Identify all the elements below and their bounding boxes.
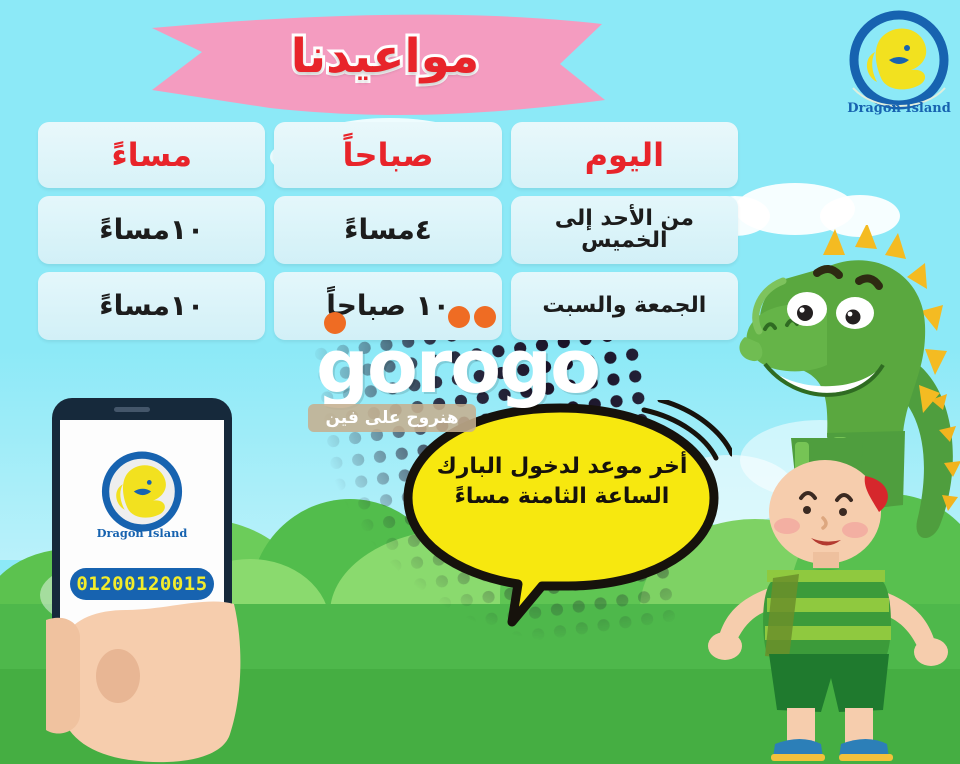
cell-morning: ٤مساءً — [274, 196, 501, 264]
speech-line-2: الساعة الثامنة مساءً — [422, 482, 702, 512]
header-label-evening: مساءً — [111, 139, 192, 171]
row-evening-value: ١٠مساءً — [99, 216, 204, 244]
table-row: من الأحد إلى الخميس ٤مساءً ١٠مساءً — [38, 196, 738, 264]
banner-ribbon: مواعيدنا — [150, 8, 620, 116]
hand-holding-phone — [46, 548, 256, 763]
row-evening-value: ١٠مساءً — [99, 292, 204, 320]
poster-canvas: مواعيدنا Dragon Island اليوم صباحاً مساء… — [0, 0, 960, 764]
dragon-island-logo: Dragon Island — [845, 8, 953, 120]
header-label-morning: صباحاً — [342, 139, 433, 171]
phone-in-hand: Dragon Island 01200120015 — [52, 398, 232, 728]
phone-logo-caption: Dragon Island — [97, 526, 188, 540]
banner-title: مواعيدنا — [150, 22, 620, 93]
logo-caption: Dragon Island — [847, 101, 951, 116]
header-label-day: اليوم — [585, 139, 665, 171]
watermark: gorogo هنروح على فين — [298, 328, 643, 443]
row-day-value: من الأحد إلى الخميس — [515, 208, 734, 252]
cell-evening: ١٠مساءً — [38, 272, 265, 340]
watermark-tagline: هنروح على فين — [325, 408, 458, 428]
header-cell-day: اليوم — [511, 122, 738, 188]
speech-bubble-text: أخر موعد لدخول البارك الساعة الثامنة مسا… — [422, 452, 702, 511]
header-cell-evening: مساءً — [38, 122, 265, 188]
watermark-wordmark: gorogo — [316, 324, 599, 410]
row-morning-value: ٤مساءً — [344, 216, 432, 244]
row-day-value: الجمعة والسبت — [542, 295, 706, 317]
watermark-tagline-bar: هنروح على فين — [308, 404, 476, 432]
schedule-table: اليوم صباحاً مساءً من الأحد إلى الخميس ٤… — [38, 122, 738, 348]
phone-speaker — [114, 407, 150, 412]
header-cell-morning: صباحاً — [274, 122, 501, 188]
cell-evening: ١٠مساءً — [38, 196, 265, 264]
boy-character — [703, 438, 960, 764]
phone-dragon-island-logo: Dragon Island — [92, 446, 192, 548]
table-header-row: اليوم صباحاً مساءً — [38, 122, 738, 188]
speech-line-1: أخر موعد لدخول البارك — [422, 452, 702, 482]
row-morning-value: ١٠ صباحاً — [326, 292, 450, 320]
cell-day: من الأحد إلى الخميس — [511, 196, 738, 264]
